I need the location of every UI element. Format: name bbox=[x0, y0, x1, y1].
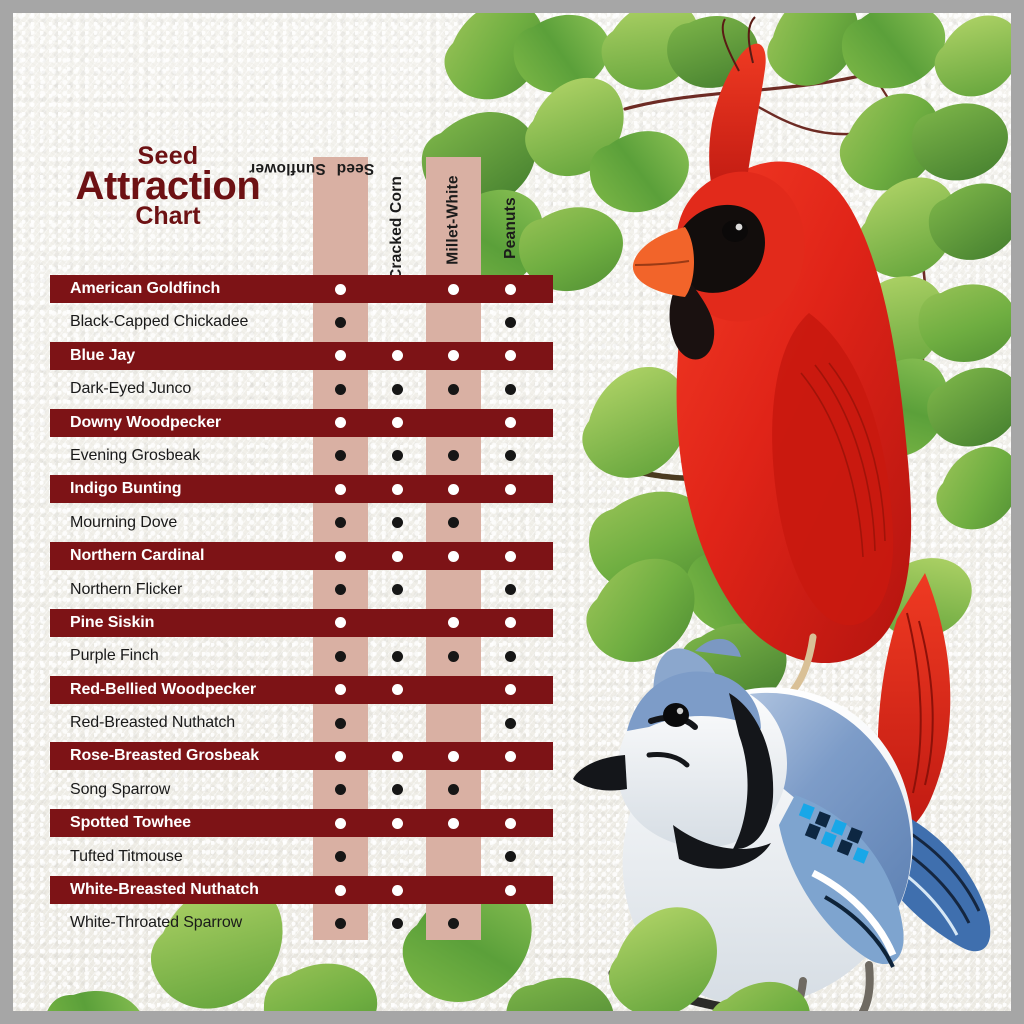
no-dot-placeholder bbox=[392, 617, 403, 628]
attracts-dot-icon bbox=[448, 350, 459, 361]
attracts-dot-icon bbox=[335, 384, 346, 395]
no-dot-placeholder bbox=[505, 517, 516, 528]
cell-peanuts[interactable] bbox=[483, 542, 538, 570]
attracts-dot-icon bbox=[448, 450, 459, 461]
bird-name-label: White-Breasted Nuthatch bbox=[70, 876, 259, 904]
cell-cracked-corn[interactable] bbox=[370, 809, 425, 837]
table-row[interactable]: Evening Grosbeak bbox=[37, 441, 553, 474]
bird-name-label: Red-Breasted Nuthatch bbox=[70, 709, 235, 737]
cell-millet-white[interactable] bbox=[426, 676, 481, 704]
bird-name-label: Red-Bellied Woodpecker bbox=[70, 676, 256, 704]
attracts-dot-icon bbox=[335, 684, 346, 695]
table-row[interactable]: Indigo Bunting bbox=[37, 474, 553, 507]
cell-cracked-corn[interactable] bbox=[370, 876, 425, 904]
bird-name-label: American Goldfinch bbox=[70, 275, 220, 303]
table-row[interactable]: Spotted Towhee bbox=[37, 808, 553, 841]
attracts-dot-icon bbox=[335, 284, 346, 295]
cell-cracked-corn[interactable] bbox=[370, 609, 425, 637]
attracts-dot-icon bbox=[448, 284, 459, 295]
column-header-sunflower-seed: SunflowerSeed bbox=[313, 157, 368, 267]
attracts-dot-icon bbox=[392, 651, 403, 662]
table-row[interactable]: White-Breasted Nuthatch bbox=[37, 875, 553, 908]
bird-name-label: Tufted Titmouse bbox=[70, 843, 183, 871]
attracts-dot-icon bbox=[505, 818, 516, 829]
no-dot-placeholder bbox=[448, 417, 459, 428]
column-header-peanuts: Peanuts bbox=[483, 157, 538, 267]
attracts-dot-icon bbox=[392, 751, 403, 762]
cell-millet-white[interactable] bbox=[426, 609, 481, 637]
cell-peanuts[interactable] bbox=[483, 642, 538, 670]
cell-millet-white[interactable] bbox=[426, 709, 481, 737]
attracts-dot-icon bbox=[335, 551, 346, 562]
no-dot-placeholder bbox=[505, 918, 516, 929]
chart-rows: American GoldfinchBlack-Capped Chickadee… bbox=[37, 274, 553, 942]
cell-sunflower-seed[interactable] bbox=[313, 342, 368, 370]
attracts-dot-icon bbox=[392, 885, 403, 896]
no-dot-placeholder bbox=[448, 851, 459, 862]
attracts-dot-icon bbox=[505, 384, 516, 395]
cell-cracked-corn[interactable] bbox=[370, 776, 425, 804]
attracts-dot-icon bbox=[335, 617, 346, 628]
cell-sunflower-seed[interactable] bbox=[313, 542, 368, 570]
bird-name-label: Song Sparrow bbox=[70, 776, 170, 804]
table-row[interactable]: Red-Bellied Woodpecker bbox=[37, 675, 553, 708]
no-dot-placeholder bbox=[392, 851, 403, 862]
cell-cracked-corn[interactable] bbox=[370, 442, 425, 470]
bird-name-label: Pine Siskin bbox=[70, 609, 154, 637]
attracts-dot-icon bbox=[392, 417, 403, 428]
cell-millet-white[interactable] bbox=[426, 776, 481, 804]
cell-peanuts[interactable] bbox=[483, 709, 538, 737]
attracts-dot-icon bbox=[448, 517, 459, 528]
bird-name-label: Mourning Dove bbox=[70, 509, 177, 537]
no-dot-placeholder bbox=[448, 317, 459, 328]
cell-cracked-corn[interactable] bbox=[370, 308, 425, 336]
cell-peanuts[interactable] bbox=[483, 876, 538, 904]
attracts-dot-icon bbox=[335, 651, 346, 662]
cell-peanuts[interactable] bbox=[483, 676, 538, 704]
attracts-dot-icon bbox=[392, 350, 403, 361]
bird-name-label: Northern Cardinal bbox=[70, 542, 204, 570]
cell-cracked-corn[interactable] bbox=[370, 709, 425, 737]
attracts-dot-icon bbox=[448, 551, 459, 562]
cell-cracked-corn[interactable] bbox=[370, 475, 425, 503]
no-dot-placeholder bbox=[448, 584, 459, 595]
attracts-dot-icon bbox=[505, 651, 516, 662]
cell-millet-white[interactable] bbox=[426, 843, 481, 871]
cell-cracked-corn[interactable] bbox=[370, 509, 425, 537]
table-row[interactable]: Song Sparrow bbox=[37, 775, 553, 808]
cell-cracked-corn[interactable] bbox=[370, 909, 425, 937]
cell-sunflower-seed[interactable] bbox=[313, 776, 368, 804]
cell-sunflower-seed[interactable] bbox=[313, 909, 368, 937]
attracts-dot-icon bbox=[448, 918, 459, 929]
attracts-dot-icon bbox=[392, 918, 403, 929]
cell-cracked-corn[interactable] bbox=[370, 342, 425, 370]
table-row[interactable]: Black-Capped Chickadee bbox=[37, 307, 553, 340]
attracts-dot-icon bbox=[392, 784, 403, 795]
attracts-dot-icon bbox=[335, 584, 346, 595]
attracts-dot-icon bbox=[505, 417, 516, 428]
attracts-dot-icon bbox=[335, 350, 346, 361]
table-row[interactable]: American Goldfinch bbox=[37, 274, 553, 307]
cell-peanuts[interactable] bbox=[483, 909, 538, 937]
poster-card: Seed Attraction Chart SunflowerSeed Crac… bbox=[13, 13, 1011, 1011]
cell-millet-white[interactable] bbox=[426, 576, 481, 604]
cell-peanuts[interactable] bbox=[483, 509, 538, 537]
table-row[interactable]: Mourning Dove bbox=[37, 508, 553, 541]
bird-name-label: Black-Capped Chickadee bbox=[70, 308, 248, 336]
no-dot-placeholder bbox=[448, 885, 459, 896]
cell-cracked-corn[interactable] bbox=[370, 742, 425, 770]
attracts-dot-icon bbox=[505, 751, 516, 762]
cell-millet-white[interactable] bbox=[426, 876, 481, 904]
attracts-dot-icon bbox=[448, 484, 459, 495]
cell-millet-white[interactable] bbox=[426, 308, 481, 336]
cell-cracked-corn[interactable] bbox=[370, 676, 425, 704]
cell-cracked-corn[interactable] bbox=[370, 542, 425, 570]
cell-peanuts[interactable] bbox=[483, 442, 538, 470]
cell-millet-white[interactable] bbox=[426, 809, 481, 837]
table-row[interactable]: Blue Jay bbox=[37, 341, 553, 374]
cell-sunflower-seed[interactable] bbox=[313, 609, 368, 637]
poster-frame: Seed Attraction Chart SunflowerSeed Crac… bbox=[0, 0, 1024, 1024]
cell-millet-white[interactable] bbox=[426, 475, 481, 503]
attracts-dot-icon bbox=[335, 818, 346, 829]
cell-sunflower-seed[interactable] bbox=[313, 409, 368, 437]
table-row[interactable]: Northern Flicker bbox=[37, 575, 553, 608]
cell-cracked-corn[interactable] bbox=[370, 843, 425, 871]
cell-peanuts[interactable] bbox=[483, 776, 538, 804]
cell-peanuts[interactable] bbox=[483, 809, 538, 837]
cell-peanuts[interactable] bbox=[483, 342, 538, 370]
bird-name-label: Northern Flicker bbox=[70, 576, 182, 604]
attracts-dot-icon bbox=[505, 851, 516, 862]
column-header-millet-white: Millet-White bbox=[426, 157, 481, 267]
attracts-dot-icon bbox=[505, 584, 516, 595]
attracts-dot-icon bbox=[505, 450, 516, 461]
attracts-dot-icon bbox=[505, 551, 516, 562]
cell-millet-white[interactable] bbox=[426, 409, 481, 437]
cell-peanuts[interactable] bbox=[483, 375, 538, 403]
cell-millet-white[interactable] bbox=[426, 509, 481, 537]
attracts-dot-icon bbox=[505, 284, 516, 295]
attracts-dot-icon bbox=[392, 818, 403, 829]
attracts-dot-icon bbox=[505, 617, 516, 628]
table-row[interactable]: Tufted Titmouse bbox=[37, 842, 553, 875]
cell-sunflower-seed[interactable] bbox=[313, 709, 368, 737]
cell-sunflower-seed[interactable] bbox=[313, 308, 368, 336]
cell-sunflower-seed[interactable] bbox=[313, 809, 368, 837]
attracts-dot-icon bbox=[505, 484, 516, 495]
cell-cracked-corn[interactable] bbox=[370, 275, 425, 303]
no-dot-placeholder bbox=[392, 317, 403, 328]
cell-sunflower-seed[interactable] bbox=[313, 576, 368, 604]
column-header-cracked-corn: Cracked Corn bbox=[370, 157, 425, 267]
cell-millet-white[interactable] bbox=[426, 275, 481, 303]
cell-peanuts[interactable] bbox=[483, 576, 538, 604]
attracts-dot-icon bbox=[335, 484, 346, 495]
attracts-dot-icon bbox=[448, 784, 459, 795]
bird-name-label: White-Throated Sparrow bbox=[70, 909, 242, 937]
cell-cracked-corn[interactable] bbox=[370, 409, 425, 437]
table-row[interactable]: Dark-Eyed Junco bbox=[37, 374, 553, 407]
table-row[interactable]: White-Throated Sparrow bbox=[37, 908, 553, 941]
cell-peanuts[interactable] bbox=[483, 275, 538, 303]
attracts-dot-icon bbox=[392, 684, 403, 695]
cell-cracked-corn[interactable] bbox=[370, 642, 425, 670]
bird-name-label: Spotted Towhee bbox=[70, 809, 191, 837]
cell-millet-white[interactable] bbox=[426, 442, 481, 470]
table-row[interactable]: Purple Finch bbox=[37, 641, 553, 674]
cell-sunflower-seed[interactable] bbox=[313, 843, 368, 871]
attracts-dot-icon bbox=[335, 718, 346, 729]
bird-name-label: Blue Jay bbox=[70, 342, 135, 370]
table-row[interactable]: Rose-Breasted Grosbeak bbox=[37, 741, 553, 774]
attracts-dot-icon bbox=[505, 684, 516, 695]
bird-name-label: Purple Finch bbox=[70, 642, 159, 670]
cell-sunflower-seed[interactable] bbox=[313, 509, 368, 537]
cell-peanuts[interactable] bbox=[483, 475, 538, 503]
bird-name-label: Downy Woodpecker bbox=[70, 409, 221, 437]
attracts-dot-icon bbox=[392, 450, 403, 461]
attracts-dot-icon bbox=[335, 517, 346, 528]
attracts-dot-icon bbox=[448, 384, 459, 395]
no-dot-placeholder bbox=[448, 684, 459, 695]
cell-sunflower-seed[interactable] bbox=[313, 676, 368, 704]
cell-peanuts[interactable] bbox=[483, 742, 538, 770]
table-row[interactable]: Downy Woodpecker bbox=[37, 408, 553, 441]
cell-millet-white[interactable] bbox=[426, 909, 481, 937]
attracts-dot-icon bbox=[448, 751, 459, 762]
cell-peanuts[interactable] bbox=[483, 308, 538, 336]
cell-peanuts[interactable] bbox=[483, 843, 538, 871]
no-dot-placeholder bbox=[392, 284, 403, 295]
attracts-dot-icon bbox=[335, 885, 346, 896]
attracts-dot-icon bbox=[448, 651, 459, 662]
cell-sunflower-seed[interactable] bbox=[313, 742, 368, 770]
attracts-dot-icon bbox=[335, 784, 346, 795]
attracts-dot-icon bbox=[505, 317, 516, 328]
bird-name-label: Evening Grosbeak bbox=[70, 442, 200, 470]
column-header-line-1: Sunflower bbox=[249, 161, 326, 176]
cell-sunflower-seed[interactable] bbox=[313, 375, 368, 403]
cell-millet-white[interactable] bbox=[426, 375, 481, 403]
attracts-dot-icon bbox=[335, 918, 346, 929]
no-dot-placeholder bbox=[392, 718, 403, 729]
attracts-dot-icon bbox=[335, 851, 346, 862]
attracts-dot-icon bbox=[392, 517, 403, 528]
cell-cracked-corn[interactable] bbox=[370, 375, 425, 403]
cell-peanuts[interactable] bbox=[483, 609, 538, 637]
cell-sunflower-seed[interactable] bbox=[313, 442, 368, 470]
attracts-dot-icon bbox=[392, 484, 403, 495]
no-dot-placeholder bbox=[505, 784, 516, 795]
attracts-dot-icon bbox=[335, 751, 346, 762]
attracts-dot-icon bbox=[335, 417, 346, 428]
attracts-dot-icon bbox=[505, 350, 516, 361]
attracts-dot-icon bbox=[392, 584, 403, 595]
attracts-dot-icon bbox=[392, 551, 403, 562]
attracts-dot-icon bbox=[335, 450, 346, 461]
bird-name-label: Rose-Breasted Grosbeak bbox=[70, 742, 259, 770]
attracts-dot-icon bbox=[392, 384, 403, 395]
attracts-dot-icon bbox=[505, 718, 516, 729]
attracts-dot-icon bbox=[335, 317, 346, 328]
attracts-dot-icon bbox=[505, 885, 516, 896]
attracts-dot-icon bbox=[448, 818, 459, 829]
table-row[interactable]: Northern Cardinal bbox=[37, 541, 553, 574]
attracts-dot-icon bbox=[448, 617, 459, 628]
cell-sunflower-seed[interactable] bbox=[313, 642, 368, 670]
bird-name-label: Dark-Eyed Junco bbox=[70, 375, 191, 403]
cell-millet-white[interactable] bbox=[426, 642, 481, 670]
cell-peanuts[interactable] bbox=[483, 409, 538, 437]
cell-sunflower-seed[interactable] bbox=[313, 876, 368, 904]
table-row[interactable]: Red-Breasted Nuthatch bbox=[37, 708, 553, 741]
cell-cracked-corn[interactable] bbox=[370, 576, 425, 604]
table-row[interactable]: Pine Siskin bbox=[37, 608, 553, 641]
chart-title-block: Seed Attraction Chart bbox=[37, 144, 299, 229]
cell-sunflower-seed[interactable] bbox=[313, 475, 368, 503]
cell-millet-white[interactable] bbox=[426, 342, 481, 370]
cell-sunflower-seed[interactable] bbox=[313, 275, 368, 303]
no-dot-placeholder bbox=[448, 718, 459, 729]
bird-name-label: Indigo Bunting bbox=[70, 475, 181, 503]
cell-millet-white[interactable] bbox=[426, 742, 481, 770]
cell-millet-white[interactable] bbox=[426, 542, 481, 570]
